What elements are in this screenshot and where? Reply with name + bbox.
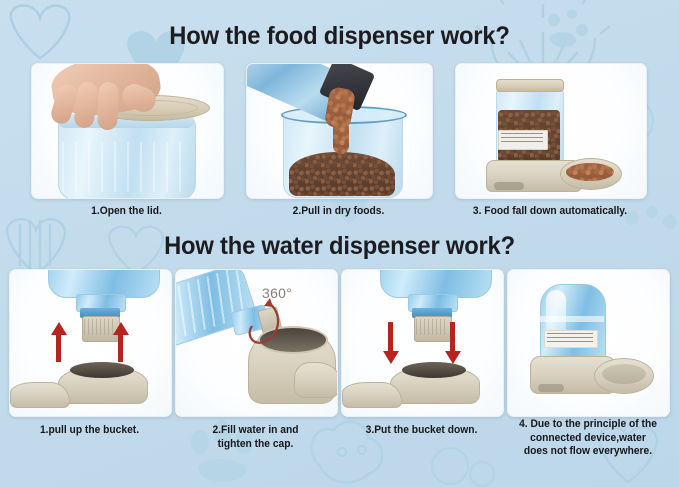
valve-ridges: [84, 319, 116, 335]
arrow-up-left-head: [51, 322, 67, 335]
kibble-stream-lower: [333, 120, 349, 154]
bowl-basin: [602, 364, 646, 384]
base-foot-cutout: [494, 182, 524, 190]
water-step-4-panel: [507, 269, 668, 415]
arrow-down-right-head: [445, 351, 461, 364]
food-step-1-panel: [31, 63, 222, 197]
water-step-3-panel: [341, 269, 502, 415]
water-step-1-caption: 1.pull up the bucket.: [13, 424, 167, 438]
water-section-heading: How the water dispenser work?: [17, 232, 662, 261]
product-label-lines: [501, 133, 543, 145]
hand-opening-lid-photo: [31, 63, 224, 199]
water-step-1-panel: [9, 269, 170, 415]
arrow-up-left-shaft: [56, 332, 61, 362]
food-section-heading: How the food dispenser work?: [17, 22, 662, 51]
food-step-2-panel: [246, 63, 431, 197]
valve-ridges: [416, 319, 448, 335]
food-step-3-panel: [455, 63, 645, 197]
arrow-up-right-shaft: [118, 332, 123, 362]
base-socket: [402, 362, 466, 378]
food-step-2-caption: 2.Pull in dry foods.: [255, 205, 422, 219]
side-bowl: [294, 362, 338, 398]
rotation-arrow-icon: [244, 294, 284, 350]
bowl-kibble: [566, 163, 614, 181]
arrow-down-left-head: [383, 351, 399, 364]
container-lid: [496, 79, 564, 92]
food-step-1-caption: 1.Open the lid.: [41, 205, 213, 219]
finger-3: [97, 82, 119, 131]
fill-water-photo: [175, 269, 338, 417]
place-bucket-photo: [341, 269, 504, 417]
food-step-3-caption: 3. Food fall down automatically.: [460, 205, 640, 219]
base-socket: [70, 362, 134, 378]
lift-bucket-photo: [9, 269, 172, 417]
arrow-down-left-shaft: [388, 322, 393, 352]
water-step-2-panel: [175, 269, 336, 415]
product-label-lines: [547, 333, 593, 343]
arrow-down-right-shaft: [450, 322, 455, 352]
kibble-pile: [289, 152, 395, 196]
pouring-dry-food-photo: [246, 63, 433, 199]
water-step-2-caption: 2.Fill water in and tighten the cap.: [183, 424, 328, 451]
water-step-4-caption: 4. Due to the principle of the connected…: [508, 418, 668, 459]
assembled-food-dispenser-photo: [455, 63, 647, 199]
side-bowl: [342, 382, 402, 408]
arrow-up-right-head: [113, 322, 129, 335]
food-container-ribs: [62, 142, 190, 192]
bottle-ring: [540, 316, 604, 322]
base-foot-cutout: [538, 384, 564, 392]
water-step-3-caption: 3.Put the bucket down.: [345, 424, 499, 438]
rotation-badge-360: 360°: [262, 285, 292, 301]
product-infographic: How the food dispenser work? 1.Open the …: [0, 0, 679, 487]
side-bowl: [10, 382, 70, 408]
assembled-water-dispenser-photo: [507, 269, 670, 417]
